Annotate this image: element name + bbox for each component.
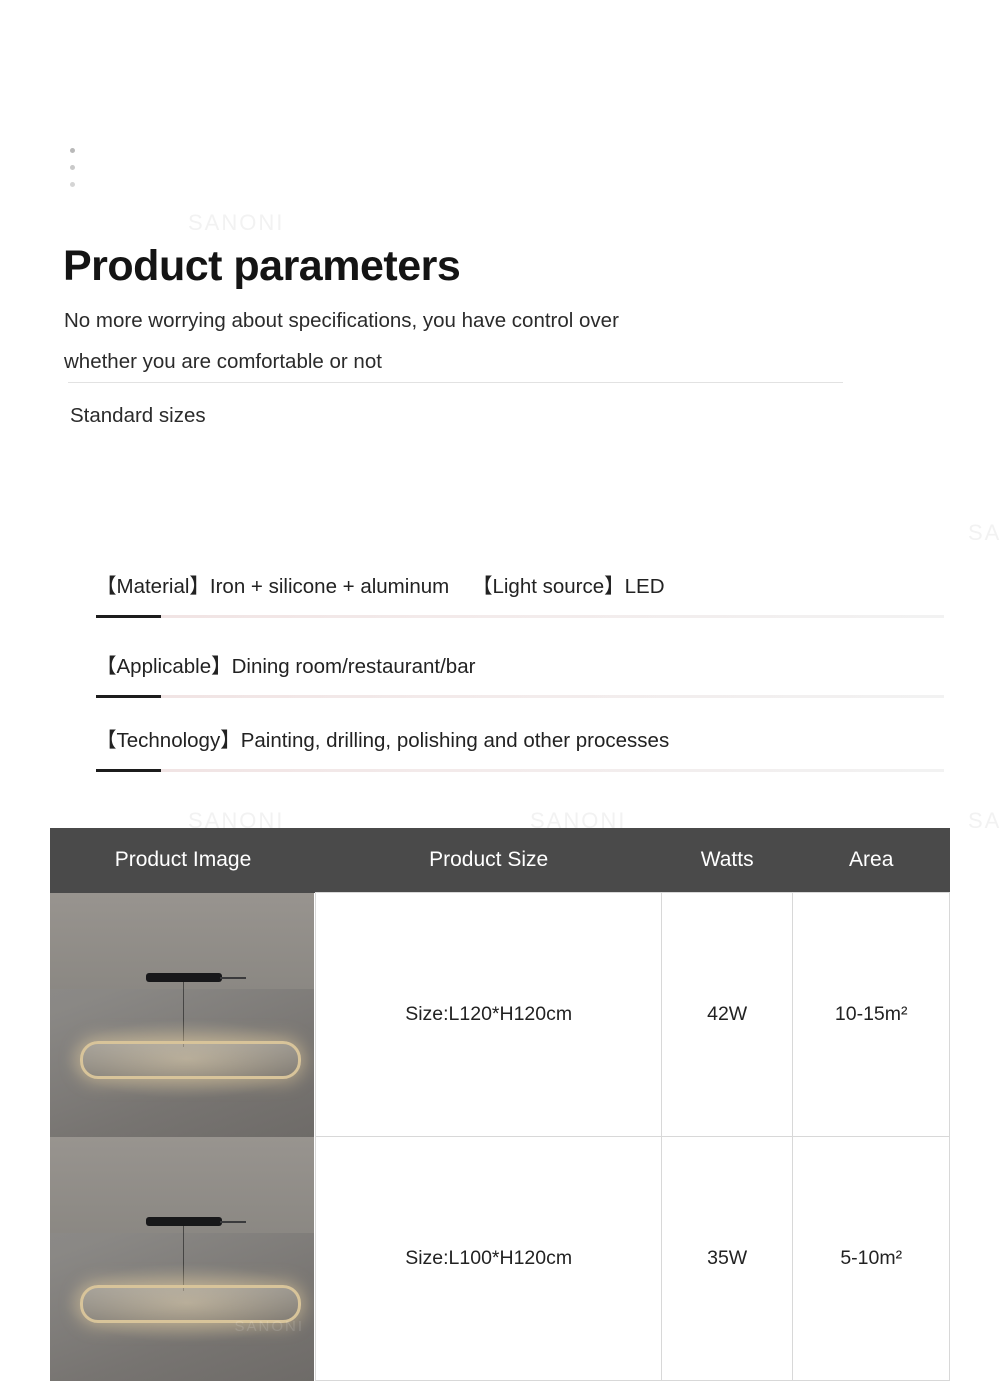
table-row: Size:L120*H120cm 42W 10-15m² — [50, 893, 950, 1137]
product-parameters-page: SANONI SA SANONI SANONI SA SANONI Produc… — [0, 0, 1000, 1390]
column-header-area: Area — [793, 828, 950, 893]
spec-row-technology: 【Technology】Painting, drilling, polishin… — [96, 727, 944, 772]
decorative-dots — [70, 148, 77, 199]
product-photo — [50, 893, 314, 1137]
dot-icon — [70, 148, 75, 153]
table-row: SANONI Size:L100*H120cm 35W 5-10m² — [50, 1137, 950, 1381]
product-image-cell — [50, 893, 316, 1137]
spec-text: 【Technology】Painting, drilling, polishin… — [96, 727, 944, 755]
section-label-standard-sizes: Standard sizes — [70, 404, 206, 428]
photo-wire — [183, 1225, 184, 1291]
watermark: SANONI — [188, 210, 284, 236]
product-size-cell: Size:L120*H120cm — [316, 893, 661, 1137]
table-header-row: Product Image Product Size Watts Area — [50, 828, 950, 893]
photo-led-ring — [80, 1041, 301, 1079]
spec-underline — [96, 615, 944, 618]
column-header-watts: Watts — [661, 828, 793, 893]
watermark: SA — [968, 808, 1000, 834]
product-photo: SANONI — [50, 1137, 314, 1381]
page-title: Product parameters — [63, 242, 460, 291]
spec-underline — [96, 695, 944, 698]
subtitle-line-1: No more worrying about specifications, y… — [64, 300, 854, 341]
column-header-product-image: Product Image — [50, 828, 316, 893]
page-subtitle: No more worrying about specifications, y… — [64, 300, 854, 382]
dot-icon — [70, 165, 75, 170]
watermark: SANONI — [234, 1318, 304, 1335]
photo-wire — [183, 981, 184, 1047]
watermark: SA — [968, 520, 1000, 546]
divider — [68, 382, 843, 383]
product-area-cell: 10-15m² — [793, 893, 950, 1137]
column-header-product-size: Product Size — [316, 828, 661, 893]
subtitle-line-2: whether you are comfortable or not — [64, 341, 854, 382]
product-watts-cell: 42W — [661, 893, 793, 1137]
product-watts-cell: 35W — [661, 1137, 793, 1381]
dot-icon — [70, 182, 75, 187]
spec-text: 【Applicable】Dining room/restaurant/bar — [96, 653, 944, 681]
spec-underline — [96, 769, 944, 772]
spec-row-applicable: 【Applicable】Dining room/restaurant/bar — [96, 653, 944, 698]
spec-text: 【Material】Iron + silicone + aluminum 【Li… — [96, 573, 944, 601]
product-size-table: Product Image Product Size Watts Area S — [50, 828, 950, 1381]
product-image-cell: SANONI — [50, 1137, 316, 1381]
product-size-cell: Size:L100*H120cm — [316, 1137, 661, 1381]
spec-row-material: 【Material】Iron + silicone + aluminum 【Li… — [96, 573, 944, 618]
photo-mount-bar — [146, 973, 222, 982]
product-area-cell: 5-10m² — [793, 1137, 950, 1381]
photo-mount-bar — [146, 1217, 222, 1226]
